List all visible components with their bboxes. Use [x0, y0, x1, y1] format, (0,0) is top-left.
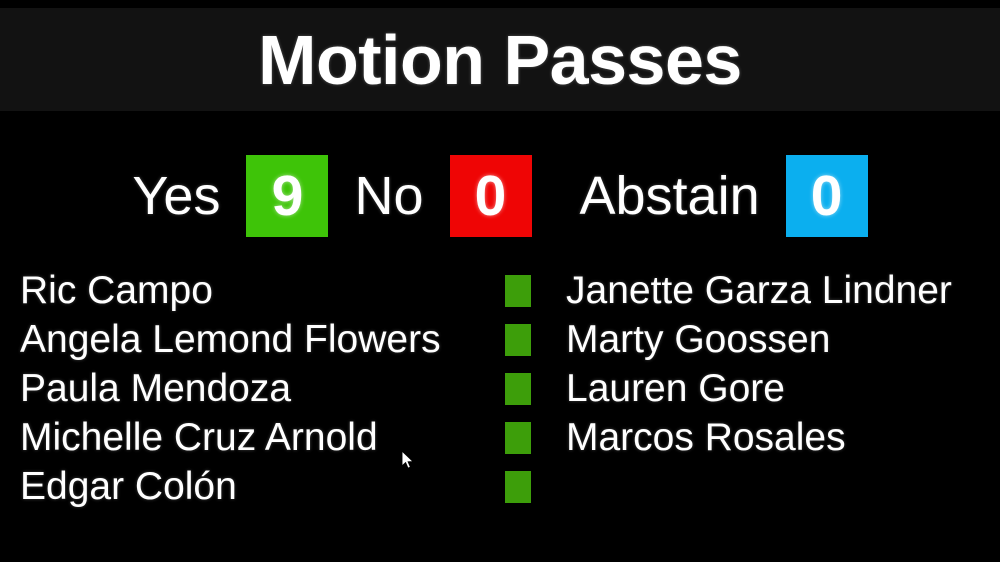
- vote-tally-row: Yes 9 No 0 Abstain 0: [0, 150, 1000, 242]
- vote-chip-yes: [505, 275, 531, 307]
- tally-abstain: Abstain 0: [580, 150, 868, 242]
- roster-row: Paula Mendoza: [20, 364, 490, 413]
- vote-chip-yes: [505, 422, 531, 454]
- tally-abstain-box: 0: [786, 155, 868, 237]
- voter-name: Marty Goossen: [566, 320, 830, 359]
- tally-no: No 0: [354, 150, 531, 242]
- roster-column-left: Ric CampoAngela Lemond FlowersPaula Mend…: [20, 266, 490, 511]
- tally-yes-label: Yes: [132, 169, 220, 223]
- roster-row: Angela Lemond Flowers: [20, 315, 490, 364]
- vote-board: Motion Passes Yes 9 No 0 Abstain 0 Ric C…: [0, 0, 1000, 562]
- vote-chip-yes: [505, 324, 531, 356]
- roster-row: Marty Goossen: [505, 315, 995, 364]
- tally-no-box: 0: [450, 155, 532, 237]
- voter-name: Marcos Rosales: [566, 418, 846, 457]
- voter-name: Janette Garza Lindner: [566, 271, 952, 310]
- tally-yes: Yes 9: [132, 150, 328, 242]
- roster-row: Janette Garza Lindner: [505, 266, 995, 315]
- roster-row: Lauren Gore: [505, 364, 995, 413]
- roster-row: [505, 462, 995, 511]
- voter-name: Lauren Gore: [566, 369, 785, 408]
- title-band: Motion Passes: [0, 8, 1000, 111]
- tally-yes-box: 9: [246, 155, 328, 237]
- tally-abstain-label: Abstain: [580, 169, 760, 223]
- voter-name: Edgar Colón: [20, 467, 237, 506]
- roster-row: Ric Campo: [20, 266, 490, 315]
- tally-abstain-count: 0: [811, 168, 843, 225]
- vote-chip-yes: [505, 373, 531, 405]
- voter-name: Paula Mendoza: [20, 369, 291, 408]
- voter-roster: Ric CampoAngela Lemond FlowersPaula Mend…: [0, 266, 1000, 516]
- voter-name: Angela Lemond Flowers: [20, 320, 441, 359]
- tally-no-label: No: [354, 169, 423, 223]
- roster-column-right: Janette Garza LindnerMarty GoossenLauren…: [505, 266, 995, 511]
- roster-row: Edgar Colón: [20, 462, 490, 511]
- roster-row: Michelle Cruz Arnold: [20, 413, 490, 462]
- voter-name: Michelle Cruz Arnold: [20, 418, 378, 457]
- vote-chip-yes: [505, 471, 531, 503]
- tally-no-count: 0: [475, 168, 507, 225]
- voter-name: Ric Campo: [20, 271, 213, 310]
- top-letterbox-strip: [0, 0, 1000, 8]
- roster-row: Marcos Rosales: [505, 413, 995, 462]
- page-title: Motion Passes: [258, 25, 742, 95]
- tally-yes-count: 9: [272, 168, 304, 225]
